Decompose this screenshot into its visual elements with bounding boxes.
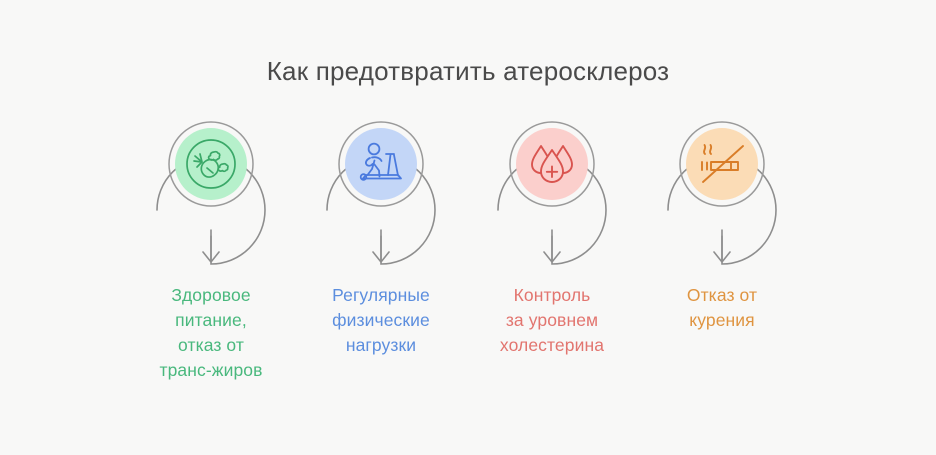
step-caption-cholesterol-control: Контроль за уровнем холестерина — [462, 283, 642, 358]
badge-graphic — [462, 118, 642, 266]
page-title: Как предотвратить атеросклероз — [0, 56, 936, 87]
badge-graphic — [291, 118, 471, 266]
badge-cholesterol-control — [462, 118, 642, 266]
badge-physical-activity — [291, 118, 471, 266]
badge-healthy-eating — [121, 118, 301, 266]
step-caption-physical-activity: Регулярные физические нагрузки — [291, 283, 471, 358]
step-item-physical-activity: Регулярные физические нагрузки — [291, 118, 471, 266]
step-item-healthy-eating: Здоровое питание, отказ от транс-жиров — [121, 118, 301, 266]
down-arrow-icon — [203, 230, 219, 262]
down-arrow-icon — [714, 230, 730, 262]
step-item-cholesterol-control: Контроль за уровнем холестерина — [462, 118, 642, 266]
infographic-canvas: Как предотвратить атеросклероз Здоровое … — [0, 0, 936, 455]
badge-disc — [175, 128, 247, 200]
badge-no-smoking — [632, 118, 812, 266]
badge-graphic — [632, 118, 812, 266]
down-arrow-icon — [373, 230, 389, 262]
badge-graphic — [121, 118, 301, 266]
down-arrow-icon — [544, 230, 560, 262]
step-item-no-smoking: Отказ от курения — [632, 118, 812, 266]
badge-disc — [345, 128, 417, 200]
step-caption-no-smoking: Отказ от курения — [632, 283, 812, 333]
step-caption-healthy-eating: Здоровое питание, отказ от транс-жиров — [121, 283, 301, 383]
